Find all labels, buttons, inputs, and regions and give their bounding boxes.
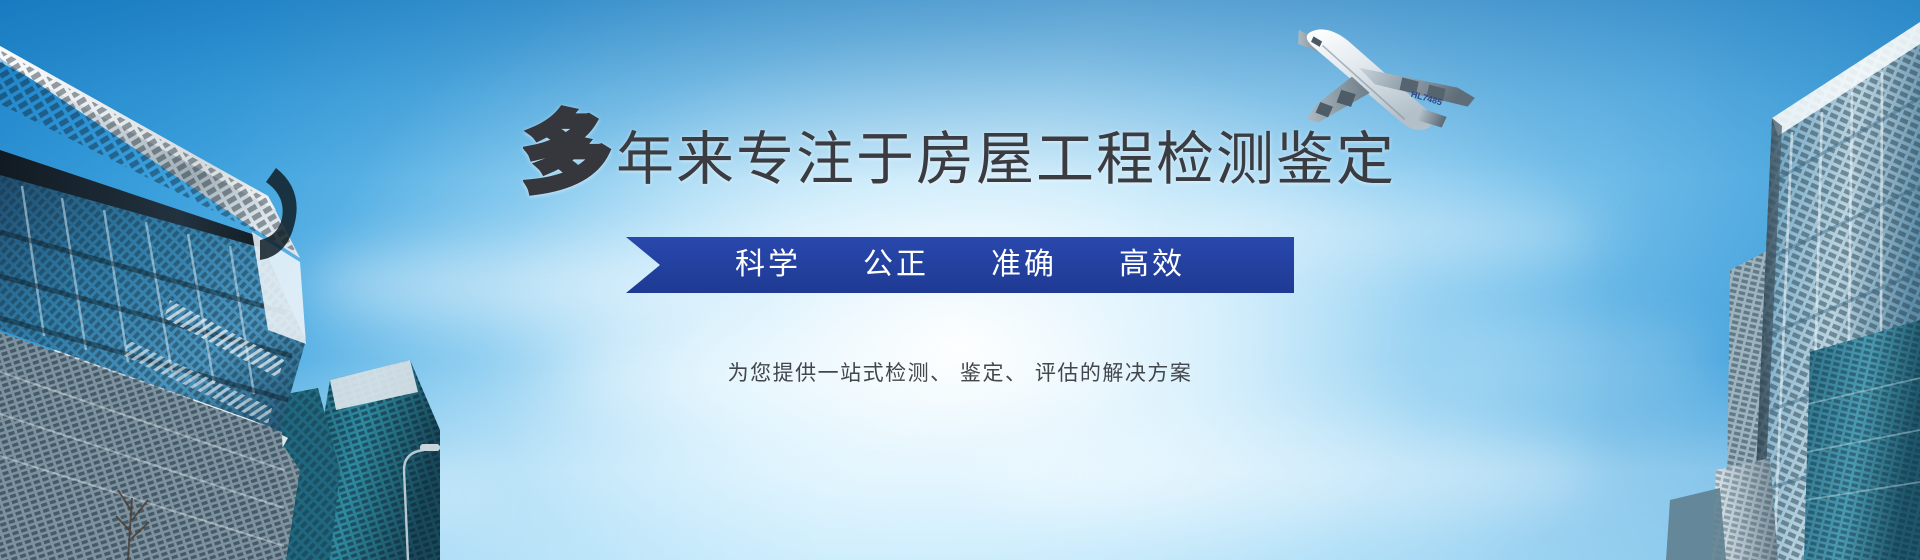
airplane-icon: HL7485	[1290, 0, 1502, 150]
ribbon-word-1: 科学	[735, 250, 801, 280]
left-skyscrapers	[0, 0, 440, 560]
right-skyscrapers	[1520, 0, 1920, 560]
banner-subtitle: 为您提供一站式检测、 鉴定、 评估的解决方案	[728, 357, 1193, 387]
ribbon-word-2: 公正	[863, 250, 929, 280]
ribbon-word-3: 准确	[991, 250, 1057, 280]
headline: 多 年来专注于房屋工程检测鉴定	[524, 112, 1396, 189]
headline-lead-character: 多	[524, 116, 610, 193]
hero-banner: 多 年来专注于房屋工程检测鉴定 科学 公正	[0, 0, 1920, 560]
slogan-ribbon: 科学 公正 准确 高效	[626, 237, 1294, 293]
headline-rest-text: 年来专注于房屋工程检测鉴定	[616, 131, 1396, 189]
ribbon-word-4: 高效	[1119, 250, 1185, 280]
ribbon-words: 科学 公正 准确 高效	[626, 237, 1294, 293]
